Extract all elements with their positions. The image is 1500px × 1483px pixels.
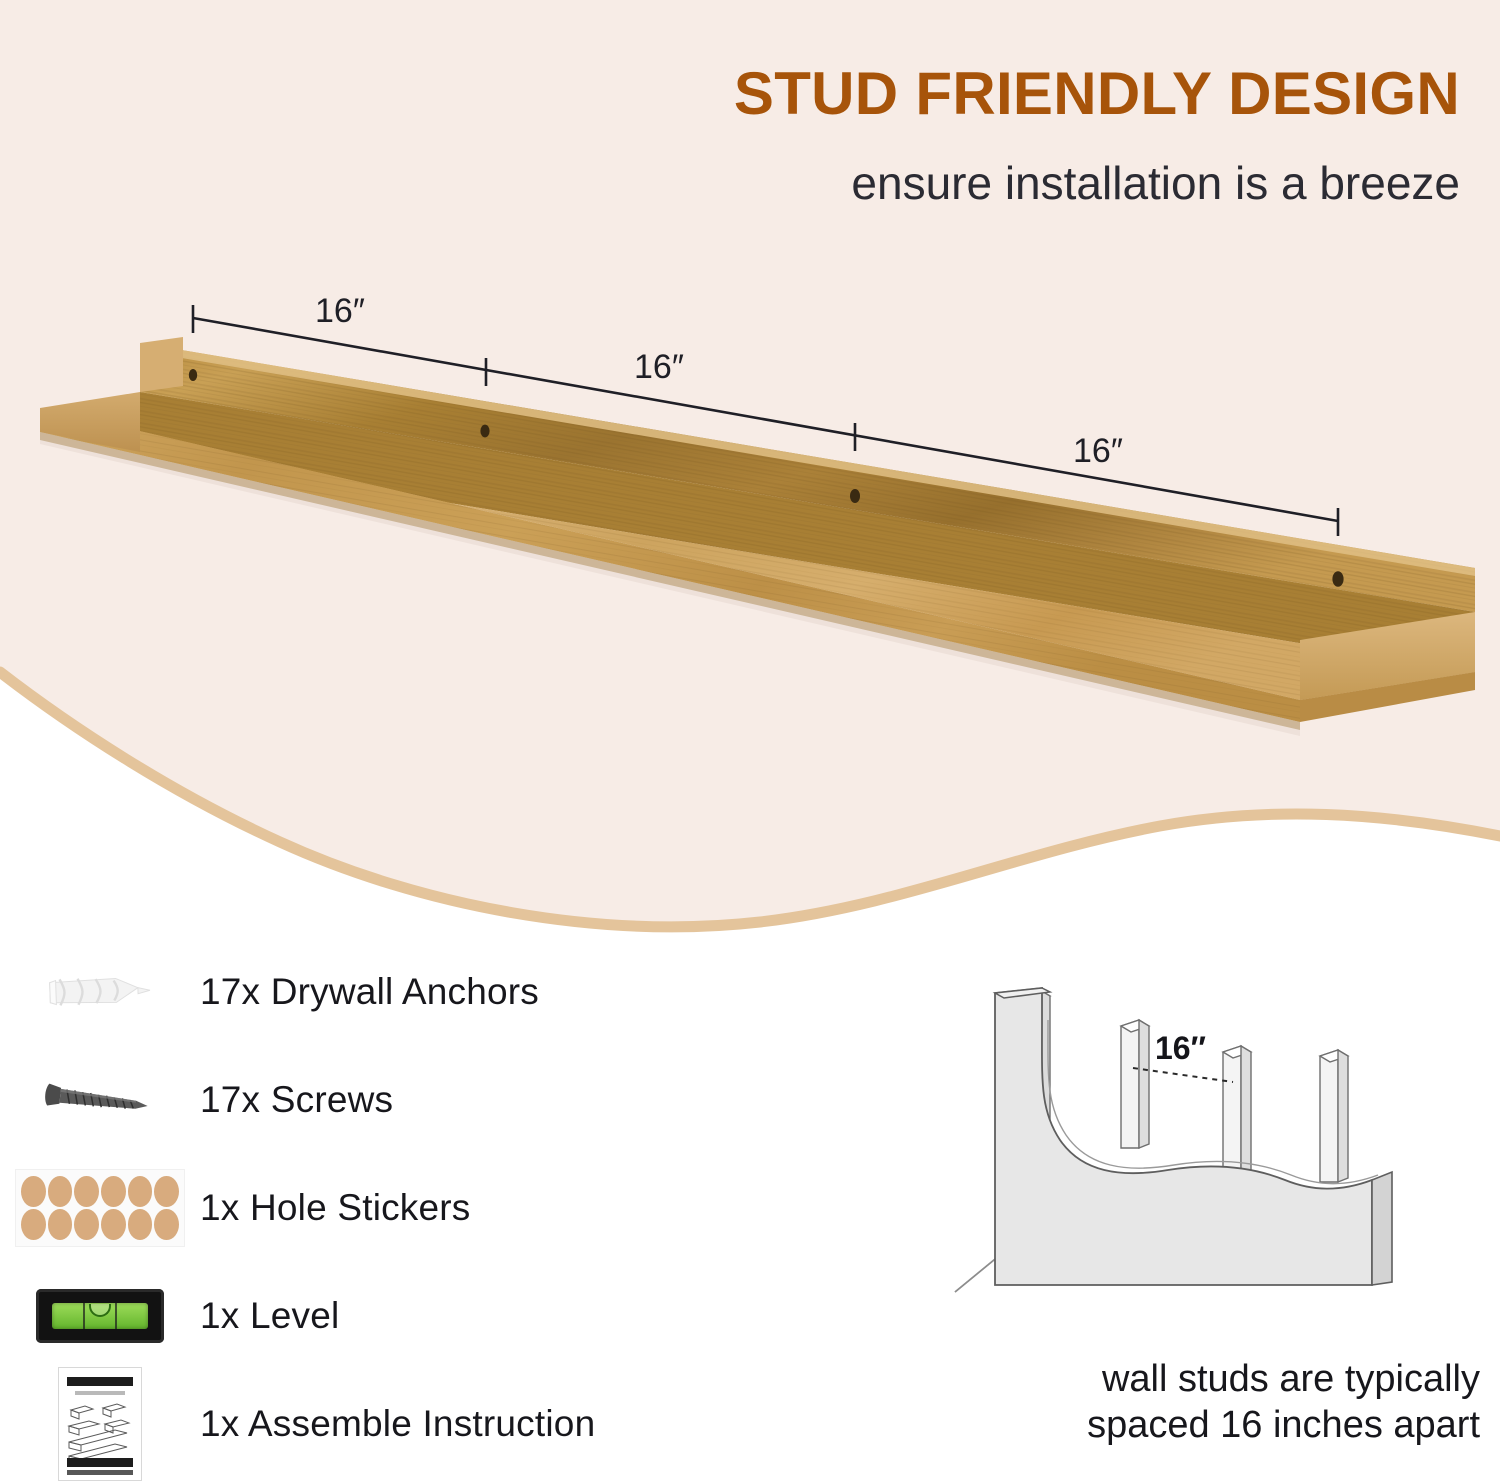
mounting-hole [480, 425, 489, 438]
list-item: 1x Level [0, 1262, 860, 1370]
mounting-hole [1332, 571, 1343, 587]
drywall-panel-edge [1372, 1172, 1392, 1285]
shelf-dimension-label-1: 16″ [315, 292, 365, 331]
caption-line-2: spaced 16 inches apart [880, 1402, 1480, 1448]
stud-dimension-label: 16″ [1155, 1030, 1206, 1067]
level-icon [0, 1266, 200, 1366]
caption-line-1: wall studs are typically [880, 1356, 1480, 1402]
shelf-dimension-label-3: 16″ [1073, 432, 1123, 471]
screw-icon [0, 1050, 200, 1150]
part-label: 1x Assemble Instruction [200, 1403, 595, 1445]
list-item: 17x Drywall Anchors [0, 938, 860, 1046]
list-item: 1x Hole Stickers [0, 1154, 860, 1262]
page-title: STUD FRIENDLY DESIGN [500, 62, 1460, 125]
page-subtitle: ensure installation is a breeze [460, 158, 1460, 209]
shelf-left-riser-endcap [140, 337, 183, 392]
part-label: 17x Screws [200, 1079, 393, 1121]
wall-stud [1320, 1050, 1348, 1182]
wall-stud [1223, 1046, 1251, 1178]
wall-stud [1121, 1020, 1149, 1148]
infographic-canvas: STUD FRIENDLY DESIGN ensure installation… [0, 0, 1500, 1483]
mounting-hole [189, 369, 197, 381]
shelf-dimension-label-2: 16″ [634, 348, 684, 387]
instruction-booklet-icon [0, 1374, 200, 1474]
mounting-hole [850, 489, 860, 503]
part-label: 1x Level [200, 1295, 339, 1337]
list-item: 17x Screws [0, 1046, 860, 1154]
hole-stickers-icon [0, 1158, 200, 1258]
list-item: 1x Assemble Instruction [0, 1370, 860, 1478]
drywall-anchor-icon [0, 942, 200, 1042]
parts-list: 17x Drywall Anchors [0, 938, 860, 1478]
part-label: 17x Drywall Anchors [200, 971, 539, 1013]
stud-diagram-caption: wall studs are typically spaced 16 inche… [880, 1356, 1480, 1449]
part-label: 1x Hole Stickers [200, 1187, 471, 1229]
